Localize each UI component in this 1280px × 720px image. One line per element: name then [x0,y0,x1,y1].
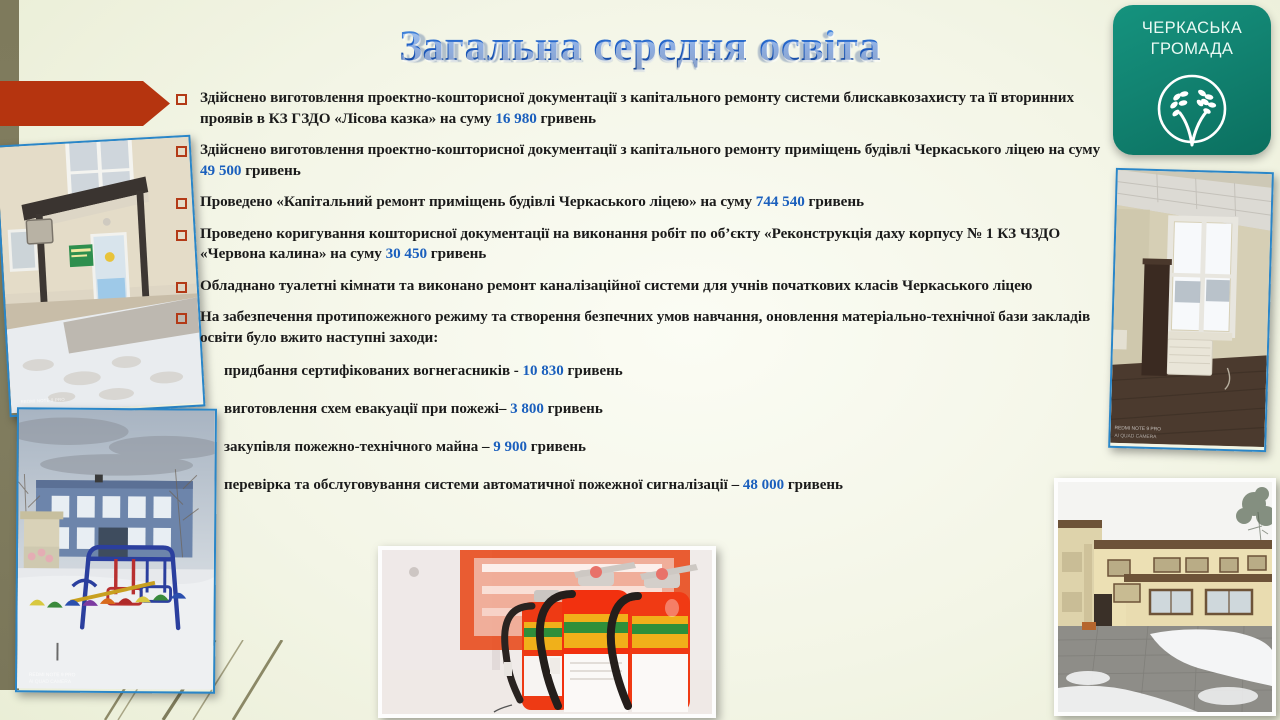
list-item: Обладнано туалетні кімнати та виконано р… [176,276,1106,297]
list-item: На забезпечення протипожежного режиму та… [176,307,1106,348]
square-bullet-icon [176,146,187,157]
square-bullet-icon [176,198,187,209]
measures-sublist: придбання сертифікованих вогнегасників -… [224,362,1106,495]
bullet-text: На забезпечення протипожежного режиму та… [200,307,1106,348]
logo-text: ЧЕРКАСЬКА ГРОМАДА [1113,18,1271,60]
bullet-text: Здійснено виготовлення проектно-кошторис… [200,140,1106,181]
square-bullet-icon [176,282,187,293]
list-item: Проведено «Капітальний ремонт приміщень … [176,192,1106,213]
page-title: Загальна середня освіта [0,22,1280,71]
list-item: Проведено коригування кошторисної докуме… [176,224,1106,265]
list-item: Здійснено виготовлення проектно-кошторис… [176,88,1106,129]
sublist-item: перевірка та обслуговування системи авто… [224,476,1106,495]
sublist-item: закупівля пожежно-технічного майна – 9 9… [224,438,1106,457]
presentation-slide: Загальна середня освіта Загальна середня… [0,0,1280,720]
amount-value: 9 900 [493,439,527,455]
bullet-text: Проведено «Капітальний ремонт приміщень … [200,192,864,213]
bullet-text: Проведено коригування кошторисної докуме… [200,224,1106,265]
sublist-item: виготовлення схем евакуації при пожежі– … [224,400,1106,419]
amount-value: 744 540 [756,193,805,210]
logo-line-2: ГРОМАДА [1113,39,1271,60]
tree-emblem-icon [1150,67,1234,151]
school-entrance-photo: REDMI NOTE 9 PRO [0,135,205,418]
svg-text:REDMI NOTE 9 PRO: REDMI NOTE 9 PRO [29,672,76,678]
amount-value: 49 500 [200,162,241,179]
fire-extinguishers-photo [378,546,716,718]
list-item: Здійснено виготовлення проектно-кошторис… [176,140,1106,181]
square-bullet-icon [176,313,187,324]
bullet-text: Здійснено виготовлення проектно-кошторис… [200,88,1106,129]
bullet-text: Обладнано туалетні кімнати та виконано р… [200,276,1032,297]
red-arrow-banner [0,81,170,126]
sublist-item: придбання сертифікованих вогнегасників -… [224,362,1106,381]
bullet-list: Здійснено виготовлення проектно-кошторис… [176,88,1106,514]
amount-value: 30 450 [386,245,427,262]
square-bullet-icon [176,230,187,241]
svg-text:AI QUAD CAMERA: AI QUAD CAMERA [1114,433,1157,440]
amount-value: 16 980 [495,110,536,127]
amount-value: 10 830 [523,363,564,379]
cherkaska-hromada-logo: ЧЕРКАСЬКА ГРОМАДА [1113,5,1271,155]
logo-line-1: ЧЕРКАСЬКА [1113,18,1271,39]
svg-text:AI QUAD CAMERA: AI QUAD CAMERA [29,679,72,685]
amount-value: 48 000 [743,477,784,493]
amount-value: 3 800 [510,401,544,417]
renovated-room-photo: REDMI NOTE 9 PRO AI QUAD CAMERA [1108,168,1274,452]
square-bullet-icon [176,94,187,105]
